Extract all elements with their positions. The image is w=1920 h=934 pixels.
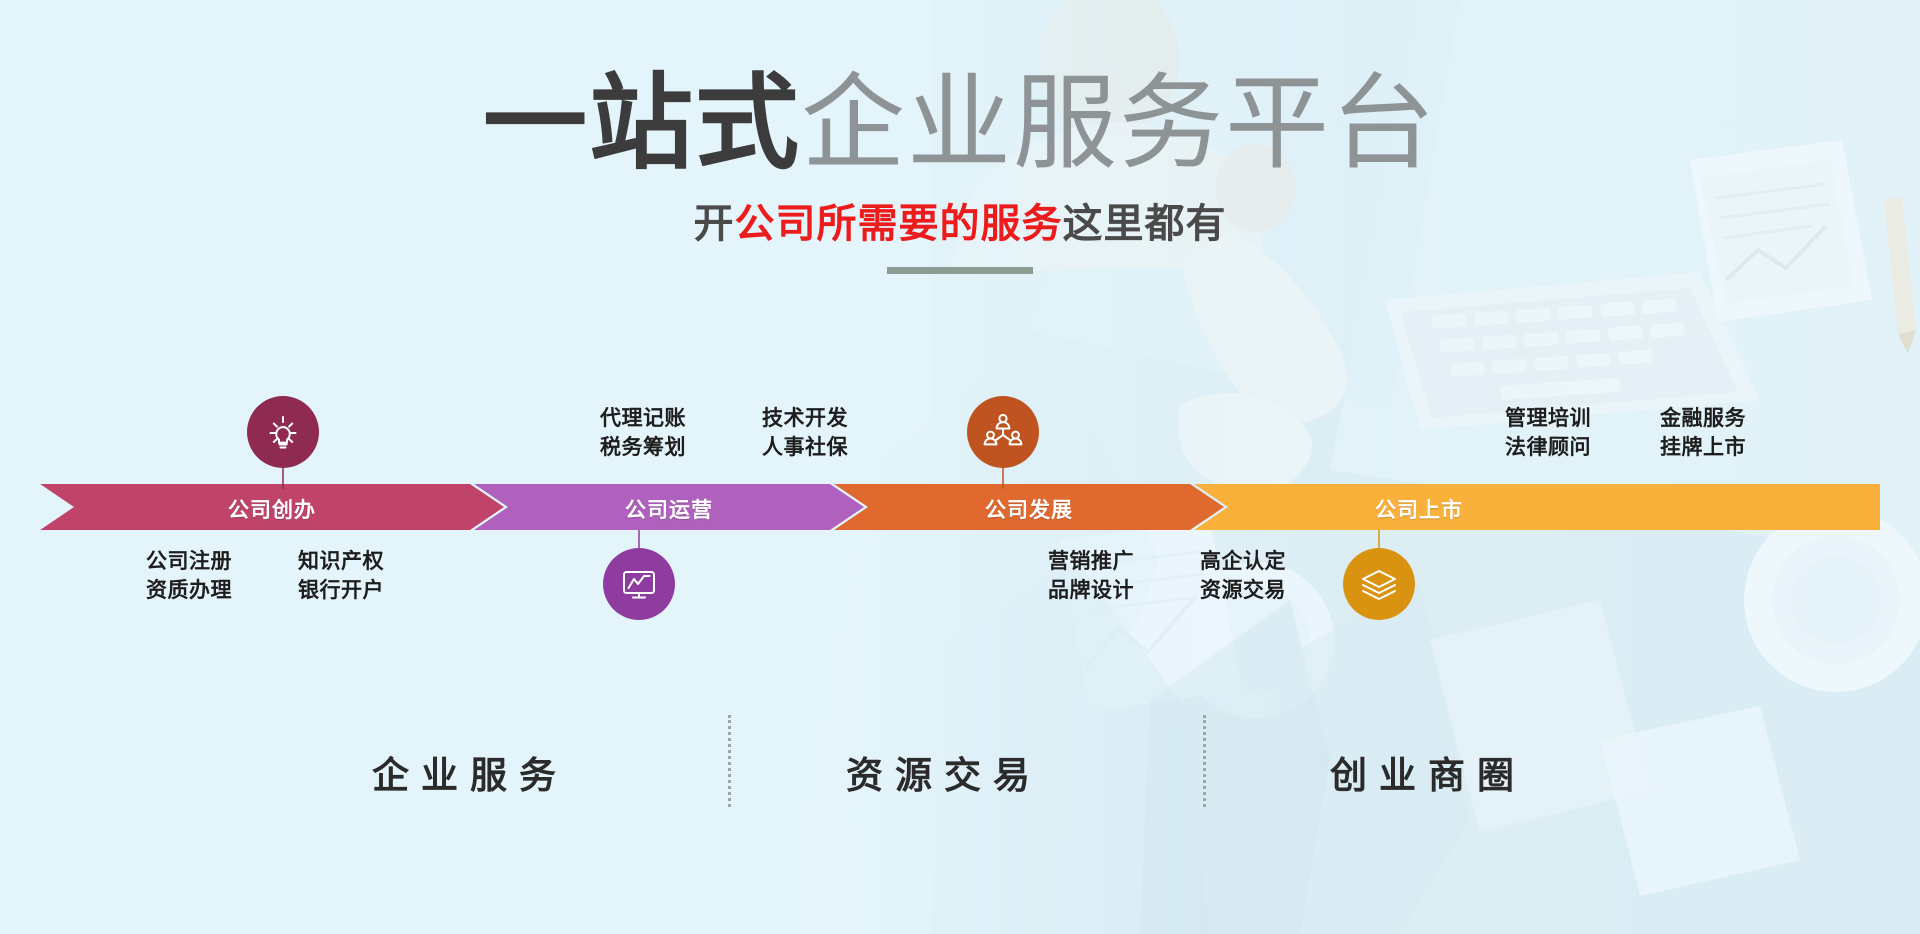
medallion-stem-3 — [1002, 467, 1004, 489]
caption-line-2: 法律顾问 — [1505, 433, 1591, 462]
caption-tech-development: 技术开发 人事社保 — [762, 404, 848, 462]
medallion-stem-2 — [638, 530, 640, 550]
caption-line-1: 高企认定 — [1200, 547, 1286, 576]
medallion-stem-1 — [282, 467, 284, 489]
caption-bookkeeping: 代理记账 税务筹划 — [600, 404, 686, 462]
caption-management-training: 管理培训 法律顾问 — [1505, 404, 1591, 462]
caption-line-2: 税务筹划 — [600, 433, 686, 462]
subtitle-prefix: 开 — [694, 201, 735, 247]
caption-line-2: 银行开户 — [298, 576, 384, 605]
timeline-label-2[interactable]: 公司运营 — [474, 494, 864, 524]
timeline-label-1[interactable]: 公司创办 — [40, 494, 504, 524]
caption-line-1: 金融服务 — [1660, 404, 1746, 433]
title-underline-rule — [887, 267, 1033, 274]
lightbulb-icon — [262, 411, 304, 453]
caption-line-1: 管理培训 — [1505, 404, 1591, 433]
subtitle-suffix: 这里都有 — [1063, 201, 1227, 247]
category-divider-1 — [728, 715, 731, 807]
category-divider-2 — [1203, 715, 1206, 807]
caption-marketing: 营销推广 品牌设计 — [1048, 547, 1134, 605]
caption-line-1: 公司注册 — [146, 547, 232, 576]
timeline-label-4[interactable]: 公司上市 — [1194, 494, 1644, 524]
category-enterprise-service[interactable]: 企业服务 — [372, 745, 568, 799]
page-title: 一站式企业服务平台 — [0, 62, 1920, 185]
header: 一站式企业服务平台 开公司所需要的服务这里都有 — [0, 62, 1920, 274]
medallion-stem-4 — [1378, 530, 1380, 550]
caption-line-2: 资质办理 — [146, 576, 232, 605]
medallion-1[interactable] — [247, 396, 319, 468]
caption-hightech-certification: 高企认定 资源交易 — [1200, 547, 1286, 605]
caption-intellectual-property: 知识产权 银行开户 — [298, 547, 384, 605]
category-resource-trading[interactable]: 资源交易 — [846, 745, 1042, 799]
caption-line-2: 资源交易 — [1200, 576, 1286, 605]
timeline-label-3[interactable]: 公司发展 — [834, 494, 1224, 524]
caption-company-registration: 公司注册 资质办理 — [146, 547, 232, 605]
money-stack-icon — [1357, 562, 1401, 606]
caption-line-1: 技术开发 — [762, 404, 848, 433]
caption-line-2: 人事社保 — [762, 433, 848, 462]
page-title-light: 企业服务平台 — [801, 62, 1437, 184]
monitor-chart-icon — [618, 563, 660, 605]
caption-financial-services: 金融服务 挂牌上市 — [1660, 404, 1746, 462]
medallion-2[interactable] — [603, 548, 675, 620]
caption-line-2: 品牌设计 — [1048, 576, 1134, 605]
medallion-4[interactable] — [1343, 548, 1415, 620]
page-title-strong: 一站式 — [483, 62, 801, 184]
caption-line-1: 营销推广 — [1048, 547, 1134, 576]
page-subtitle: 开公司所需要的服务这里都有 — [0, 191, 1920, 249]
poster-canvas: 一站式企业服务平台 开公司所需要的服务这里都有 公司创办 公司运营 公司发展 公… — [0, 0, 1920, 934]
medallion-3[interactable] — [967, 396, 1039, 468]
category-startup-circle[interactable]: 创业商圈 — [1330, 745, 1526, 799]
subtitle-highlight: 公司所需要的服务 — [735, 201, 1063, 247]
caption-line-1: 知识产权 — [298, 547, 384, 576]
team-org-icon — [981, 410, 1025, 454]
caption-line-1: 代理记账 — [600, 404, 686, 433]
caption-line-2: 挂牌上市 — [1660, 433, 1746, 462]
